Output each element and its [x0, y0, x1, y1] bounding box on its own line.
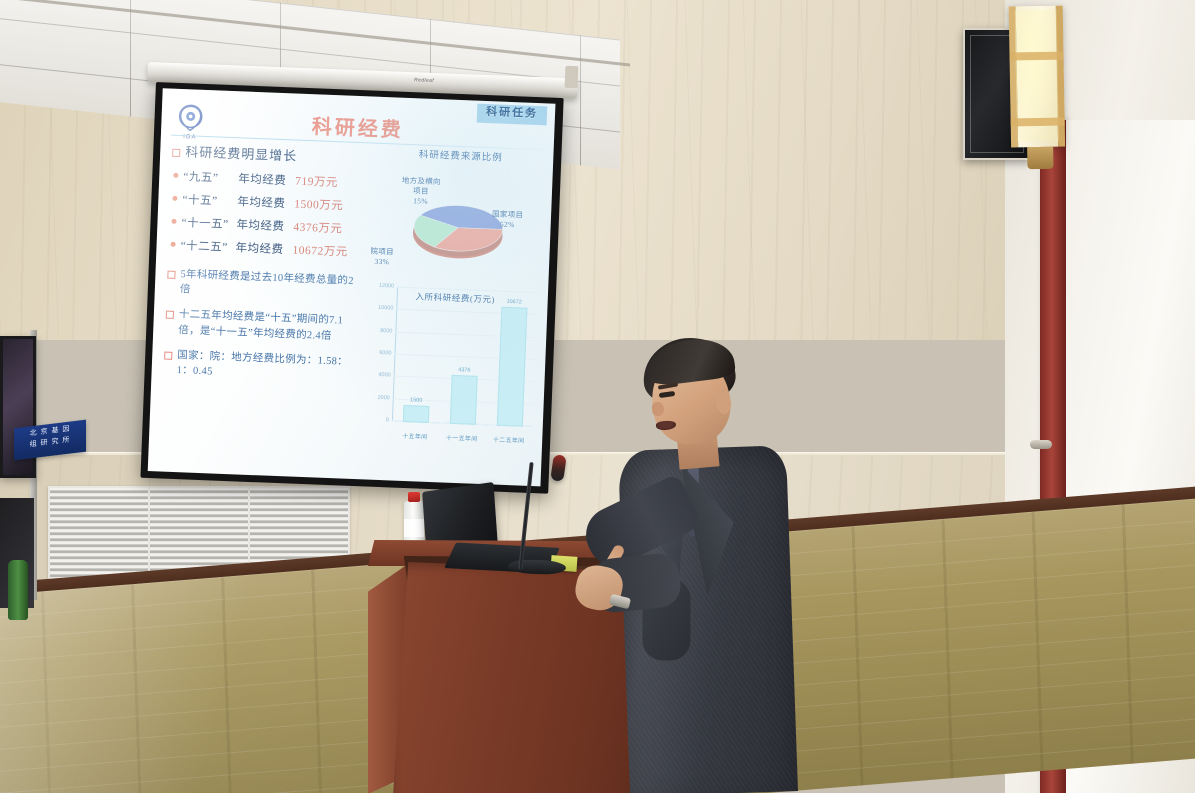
dot-bullet-icon — [173, 173, 178, 178]
pie-label-pct: 33% — [370, 256, 394, 267]
y-tick-label: 10000 — [378, 305, 394, 312]
presenter — [566, 320, 806, 793]
finance-metric: 年均经费 — [236, 216, 285, 234]
x-axis-label: 十五年间 — [391, 431, 438, 442]
pie-chart: 国家项目 52% 院项目 33% 地方及横向项目 15% — [367, 161, 548, 286]
bar-rect — [402, 405, 429, 423]
finance-value: 10672万元 — [292, 241, 348, 259]
pie-label-text: 国家项目 — [492, 209, 524, 219]
y-tick-label: 12000 — [379, 283, 395, 290]
finance-plan: “十二五” — [180, 237, 231, 255]
bar-rect — [449, 375, 477, 425]
note-row: 十二五年均经费是“十五”期间的7.1倍，是“十一五”年均经费的2.4倍 — [165, 307, 356, 345]
bottle-cap — [408, 492, 420, 502]
bottle-label — [404, 519, 424, 537]
note-text: 5年科研经费是过去10年经费总量的2倍 — [180, 267, 358, 304]
y-tick-label: 0 — [386, 417, 389, 423]
finance-metric: 年均经费 — [235, 239, 284, 257]
pie-label-national: 国家项目 52% — [491, 209, 523, 230]
slide-left-column: 科研经费明显增长 “九五” 年均经费 719万元 “十五” 年均经费 — [163, 145, 368, 396]
finance-list: “九五” 年均经费 719万元 “十五” 年均经费 1500万元 “ — [170, 168, 367, 261]
bar-item: 1500 — [392, 288, 444, 424]
bar-chart: 入所科研经费(万元) 0 2000 4000 6000 8000 10000 1… — [361, 282, 544, 449]
bar-series: 1500 4376 10672 — [392, 288, 538, 427]
finance-metric: 年均经费 — [238, 170, 287, 188]
left-heading: 科研经费明显增长 — [185, 145, 298, 164]
bar-item: 10672 — [486, 291, 538, 427]
wall-sconce-lamp — [1003, 0, 1076, 166]
bar-value-label: 4376 — [458, 367, 470, 373]
y-tick-label: 8000 — [380, 328, 392, 334]
projection-screen: 科研任务 科研经费 IGA 科研经费明显增长 — [140, 82, 563, 494]
bar-rect — [496, 306, 527, 426]
finance-plan: “十五” — [182, 191, 233, 209]
note-row: 国家：院：地方经费比例为：1.58：1：0.45 — [163, 347, 354, 385]
finance-value: 4376万元 — [293, 218, 343, 236]
finance-plan: “九五” — [183, 168, 234, 186]
finance-metric: 年均经费 — [237, 193, 286, 211]
conference-room-scene: 北 京 基 因 组 研 究 所 Redleaf 科研任务 科研经费 IGA — [0, 0, 1195, 793]
y-tick-label: 2000 — [377, 395, 389, 401]
note-text: 十二五年均经费是“十五”期间的7.1倍，是“十一五”年均经费的2.4倍 — [178, 307, 356, 344]
pie-label-local: 地方及横向项目 15% — [400, 176, 441, 207]
pie-label-pct: 52% — [491, 219, 523, 230]
finance-row: “十二五” 年均经费 10672万元 — [170, 237, 364, 261]
green-canister — [8, 560, 28, 620]
y-tick-label: 6000 — [379, 350, 391, 356]
square-bullet-icon — [172, 149, 180, 157]
pie-label-text: 院项目 — [370, 247, 394, 257]
finance-plan: “十一五” — [181, 214, 232, 232]
x-axis-label: 十一五年间 — [438, 432, 485, 443]
bar-value-label: 1500 — [410, 397, 422, 403]
door-knob[interactable] — [1030, 440, 1052, 449]
dot-bullet-icon — [171, 219, 176, 224]
dot-bullet-icon — [172, 196, 177, 201]
pie-label-academy: 院项目 33% — [370, 247, 394, 267]
finance-row: “十五” 年均经费 1500万元 — [172, 191, 366, 215]
screen-brand-label: Redleaf — [414, 77, 434, 84]
logo-emblem-icon — [175, 103, 206, 134]
finance-row: “十一五” 年均经费 4376万元 — [171, 214, 365, 238]
finance-row: “九五” 年均经费 719万元 — [173, 168, 367, 192]
dot-bullet-icon — [171, 242, 176, 247]
pie-label-text: 地方及横向项目 — [402, 176, 441, 196]
bar-x-labels: 十五年间 十一五年间 十二五年间 — [391, 431, 532, 446]
slide-surface: 科研任务 科研经费 IGA 科研经费明显增长 — [148, 88, 556, 486]
note-row: 5年科研经费是过去10年经费总量的2倍 — [167, 267, 358, 305]
slide-right-column: 科研经费来源比例 国家项目 5 — [360, 145, 550, 483]
finance-value: 1500万元 — [294, 195, 344, 213]
square-bullet-icon — [164, 351, 172, 359]
pie-label-pct: 15% — [400, 195, 440, 206]
left-heading-row: 科研经费明显增长 — [172, 145, 368, 168]
bar-plot-area: 0 2000 4000 6000 8000 10000 12000 1500 — [392, 288, 538, 427]
bar-item: 4376 — [439, 289, 491, 425]
finance-value: 719万元 — [295, 172, 338, 190]
slide-notes: 5年科研经费是过去10年经费总量的2倍 十二五年均经费是“十五”期间的7.1倍，… — [163, 267, 357, 386]
y-tick-label: 4000 — [378, 372, 390, 378]
square-bullet-icon — [167, 271, 175, 279]
square-bullet-icon — [166, 311, 174, 319]
screen-bracket — [565, 66, 579, 88]
note-text: 国家：院：地方经费比例为：1.58：1：0.45 — [176, 348, 354, 385]
bar-value-label: 10672 — [506, 299, 522, 306]
x-axis-label: 十二五年间 — [485, 434, 532, 445]
